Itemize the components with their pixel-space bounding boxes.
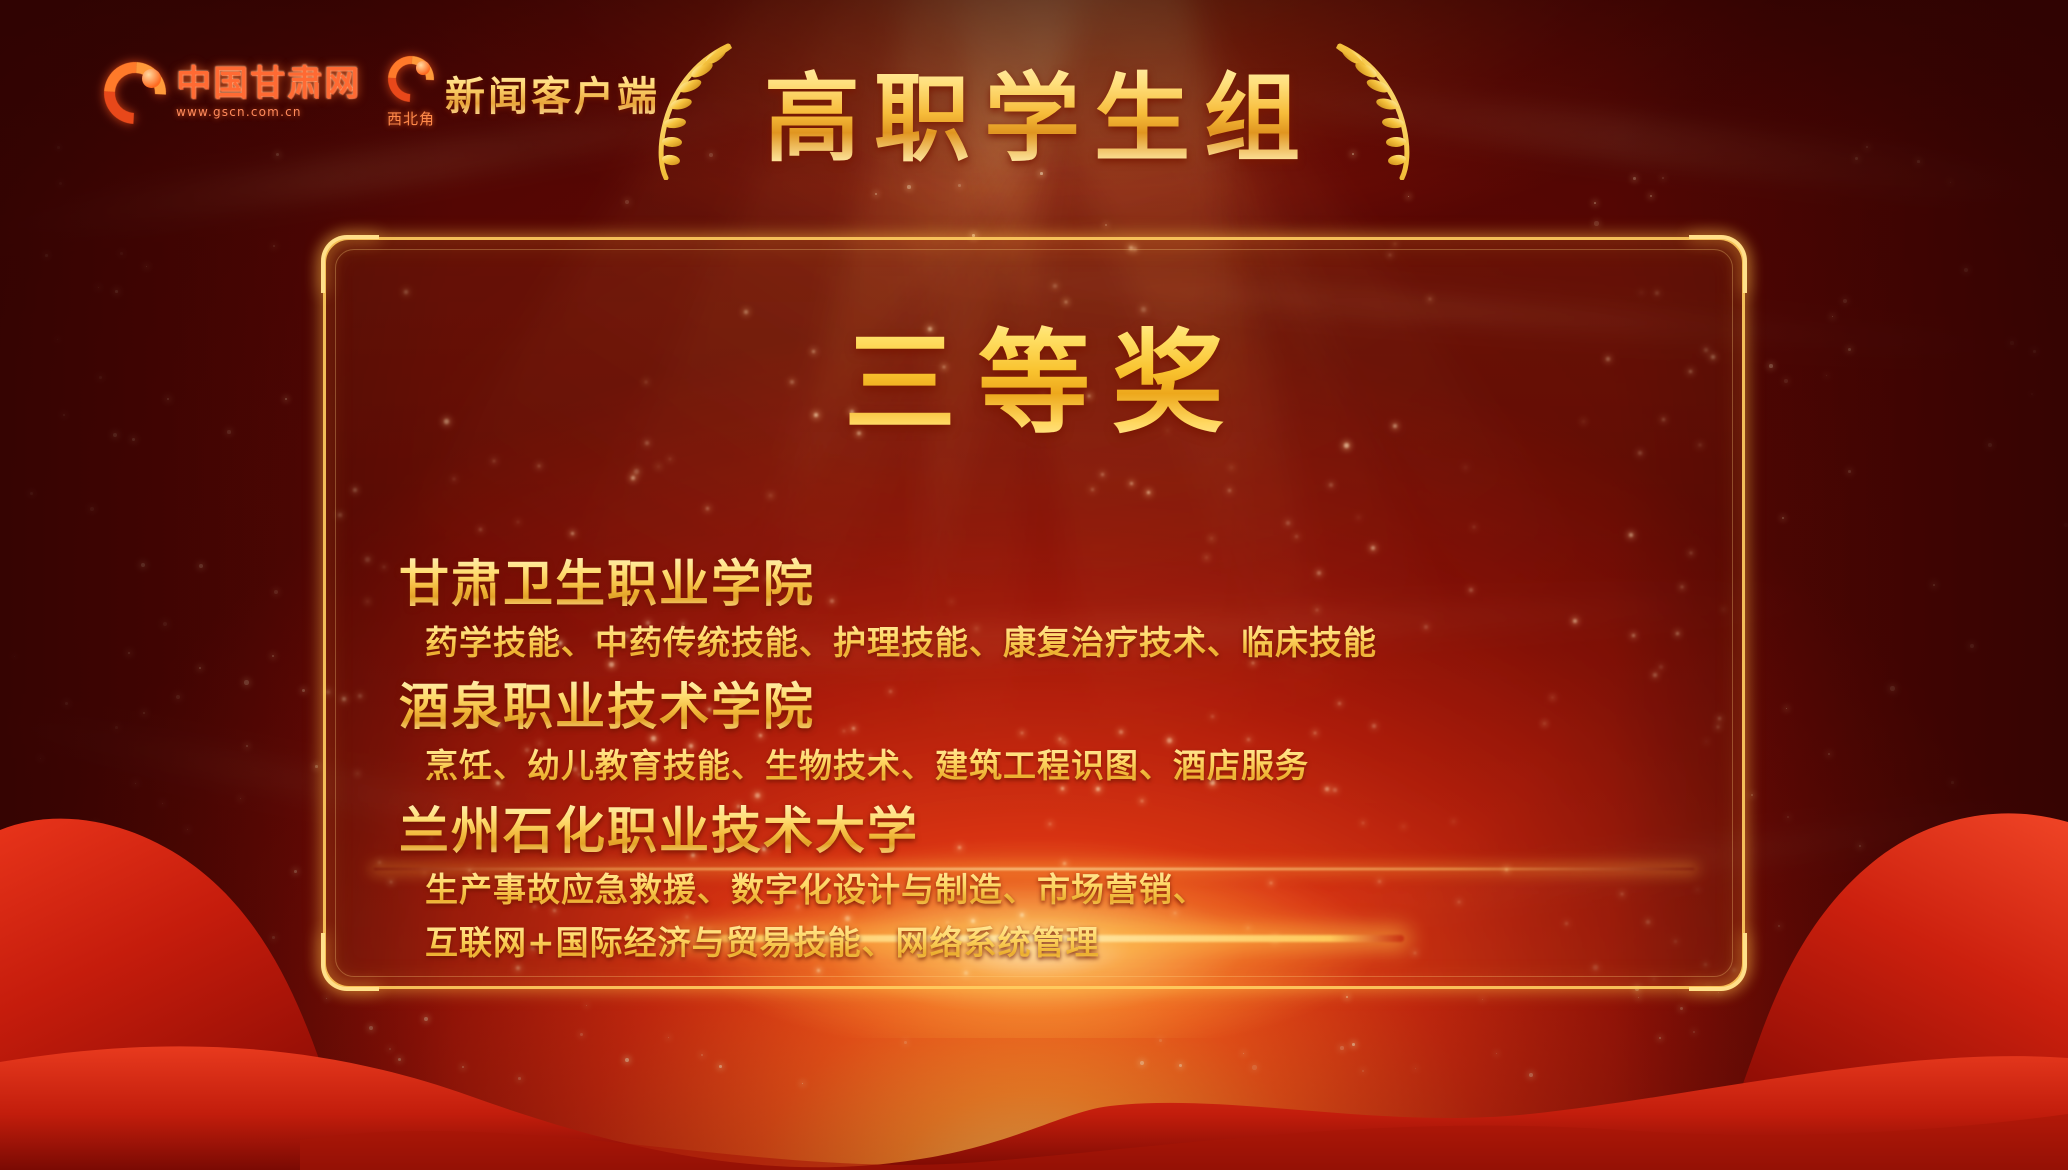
winner-major-list: 烹饪、幼儿教育技能、生物技术、建筑工程识图、酒店服务	[399, 739, 1697, 792]
category-heading: 高职学生组	[644, 40, 1424, 180]
winner-entry: 兰州石化职业技术大学生产事故应急救援、数字化设计与制造、市场营销、互联网+国际经…	[399, 799, 1697, 970]
northwest-corner-label: 西北角	[387, 108, 435, 129]
winner-school-name: 兰州石化职业技术大学	[399, 799, 1697, 863]
gansu-net-logo-url: www.gscn.com.cn	[176, 106, 361, 118]
winner-major-list: 生产事故应急救援、数字化设计与制造、市场营销、	[399, 863, 1697, 916]
news-client-app-label: 新闻客户端	[445, 64, 660, 122]
news-app-logo[interactable]: 西北角 新闻客户端	[387, 56, 660, 129]
winner-school-name: 甘肃卫生职业学院	[399, 552, 1697, 616]
award-tier-title: 三等奖	[323, 293, 1745, 455]
page-title: 高职学生组	[754, 41, 1314, 180]
panel-corner-bottom-right	[1689, 933, 1747, 991]
award-ceremony-screen: 中国甘肃网 www.gscn.com.cn 西北角 新闻客户端	[0, 0, 2068, 1170]
panel-corner-bottom-left	[321, 933, 379, 991]
northwest-horn-swirl-logo-icon	[388, 56, 434, 102]
gansu-net-logo-text: 中国甘肃网	[176, 67, 361, 102]
gansu-net-logo[interactable]: 中国甘肃网 www.gscn.com.cn	[104, 62, 361, 124]
panel-corner-top-left	[321, 235, 379, 293]
winner-major-list: 互联网+国际经济与贸易技能、网络系统管理	[399, 916, 1697, 969]
wheat-laurel-right-icon	[1328, 40, 1424, 180]
winner-entry: 酒泉职业技术学院烹饪、幼儿教育技能、生物技术、建筑工程识图、酒店服务	[399, 675, 1697, 792]
award-panel: 三等奖 甘肃卫生职业学院药学技能、中药传统技能、护理技能、康复治疗技术、临床技能…	[323, 237, 1745, 989]
winner-list: 甘肃卫生职业学院药学技能、中药传统技能、护理技能、康复治疗技术、临床技能酒泉职业…	[399, 552, 1697, 976]
winner-entry: 甘肃卫生职业学院药学技能、中药传统技能、护理技能、康复治疗技术、临床技能	[399, 552, 1697, 669]
panel-corner-top-right	[1689, 235, 1747, 293]
winner-school-name: 酒泉职业技术学院	[399, 675, 1697, 739]
gansu-net-swirl-logo-icon	[104, 62, 166, 124]
broadcaster-logo-bar: 中国甘肃网 www.gscn.com.cn 西北角 新闻客户端	[104, 56, 660, 129]
winner-major-list: 药学技能、中药传统技能、护理技能、康复治疗技术、临床技能	[399, 616, 1697, 669]
